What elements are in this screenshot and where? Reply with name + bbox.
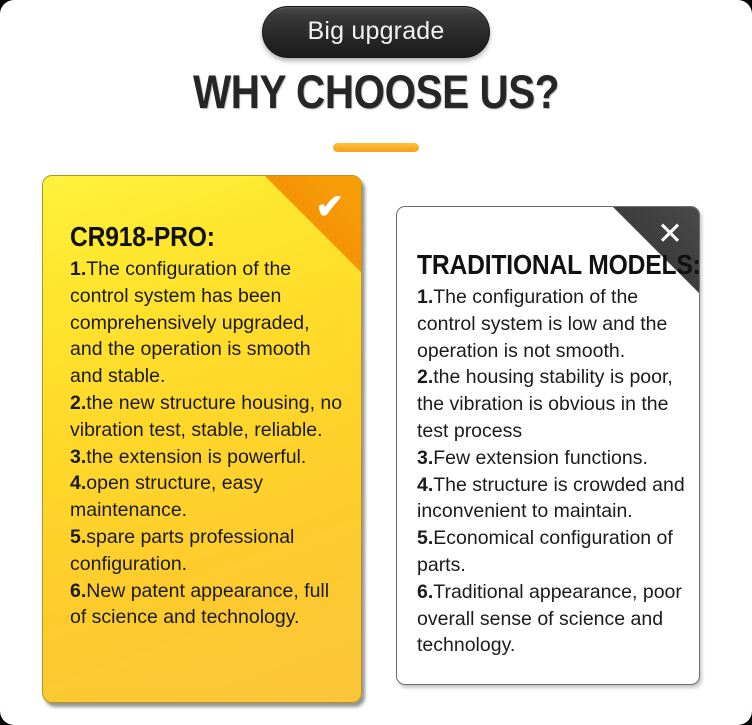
list-item-text: the housing stability is poor, the vibra… bbox=[417, 366, 673, 442]
list-item: 4.The structure is crowded and inconveni… bbox=[417, 472, 685, 526]
list-item-number: 3. bbox=[70, 446, 86, 468]
list-item: 5.spare parts professional configuration… bbox=[70, 524, 347, 578]
card-left-content: CR918-PRO: 1.The configuration of the co… bbox=[43, 176, 361, 631]
card-right-list: 1.The configuration of the control syste… bbox=[417, 284, 685, 659]
list-item-number: 6. bbox=[417, 581, 433, 603]
list-item-number: 5. bbox=[70, 526, 86, 548]
list-item-number: 2. bbox=[417, 366, 433, 388]
list-item-number: 4. bbox=[417, 474, 433, 496]
list-item-text: Economical configuration of parts. bbox=[417, 527, 673, 576]
list-item-text: Few extension functions. bbox=[433, 447, 648, 469]
accent-divider-bar bbox=[333, 143, 419, 152]
list-item-text: Traditional appearance, poor overall sen… bbox=[417, 581, 682, 657]
list-item: 6.New patent appearance, full of science… bbox=[70, 578, 347, 632]
list-item-text: spare parts professional configuration. bbox=[70, 526, 294, 575]
list-item: 4.open structure, easy maintenance. bbox=[70, 470, 347, 524]
list-item: 6.Traditional appearance, poor overall s… bbox=[417, 579, 685, 659]
card-left-title: CR918-PRO: bbox=[70, 221, 314, 253]
list-item-text: New patent appearance, full of science a… bbox=[70, 580, 329, 629]
card-traditional-models: ✕ TRADITIONAL MODELS: 1.The configuratio… bbox=[396, 206, 700, 685]
list-item: 2.the new structure housing, no vibratio… bbox=[70, 390, 347, 444]
list-item-number: 4. bbox=[70, 472, 86, 494]
list-item-number: 6. bbox=[70, 580, 86, 602]
list-item: 2.the housing stability is poor, the vib… bbox=[417, 364, 685, 444]
big-upgrade-badge[interactable]: Big upgrade bbox=[262, 6, 489, 58]
list-item: 1.The configuration of the control syste… bbox=[70, 256, 347, 390]
list-item-text: the extension is powerful. bbox=[86, 446, 306, 468]
list-item: 3.Few extension functions. bbox=[417, 445, 685, 472]
card-right-content: TRADITIONAL MODELS: 1.The configuration … bbox=[397, 207, 699, 659]
list-item-text: The configuration of the control system … bbox=[70, 258, 311, 387]
card-cr918-pro: ✔ CR918-PRO: 1.The configuration of the … bbox=[42, 175, 362, 703]
card-right-title: TRADITIONAL MODELS: bbox=[417, 249, 653, 281]
list-item: 3.the extension is powerful. bbox=[70, 444, 347, 471]
comparison-page: Big upgrade WHY CHOOSE US? ✔ CR918-PRO: … bbox=[0, 0, 752, 725]
list-item: 5.Economical configuration of parts. bbox=[417, 525, 685, 579]
list-item-number: 1. bbox=[417, 286, 433, 308]
list-item-number: 3. bbox=[417, 447, 433, 469]
list-item-number: 1. bbox=[70, 258, 86, 280]
divider-container bbox=[0, 139, 752, 157]
badge-container: Big upgrade bbox=[0, 6, 752, 58]
list-item-number: 5. bbox=[417, 527, 433, 549]
card-left-list: 1.The configuration of the control syste… bbox=[70, 256, 347, 631]
list-item-text: the new structure housing, no vibration … bbox=[70, 392, 342, 441]
list-item-text: open structure, easy maintenance. bbox=[70, 472, 263, 521]
page-title: WHY CHOOSE US? bbox=[53, 64, 700, 120]
list-item: 1.The configuration of the control syste… bbox=[417, 284, 685, 364]
list-item-text: The configuration of the control system … bbox=[417, 286, 667, 362]
list-item-text: The structure is crowded and inconvenien… bbox=[417, 474, 685, 523]
list-item-number: 2. bbox=[70, 392, 86, 414]
